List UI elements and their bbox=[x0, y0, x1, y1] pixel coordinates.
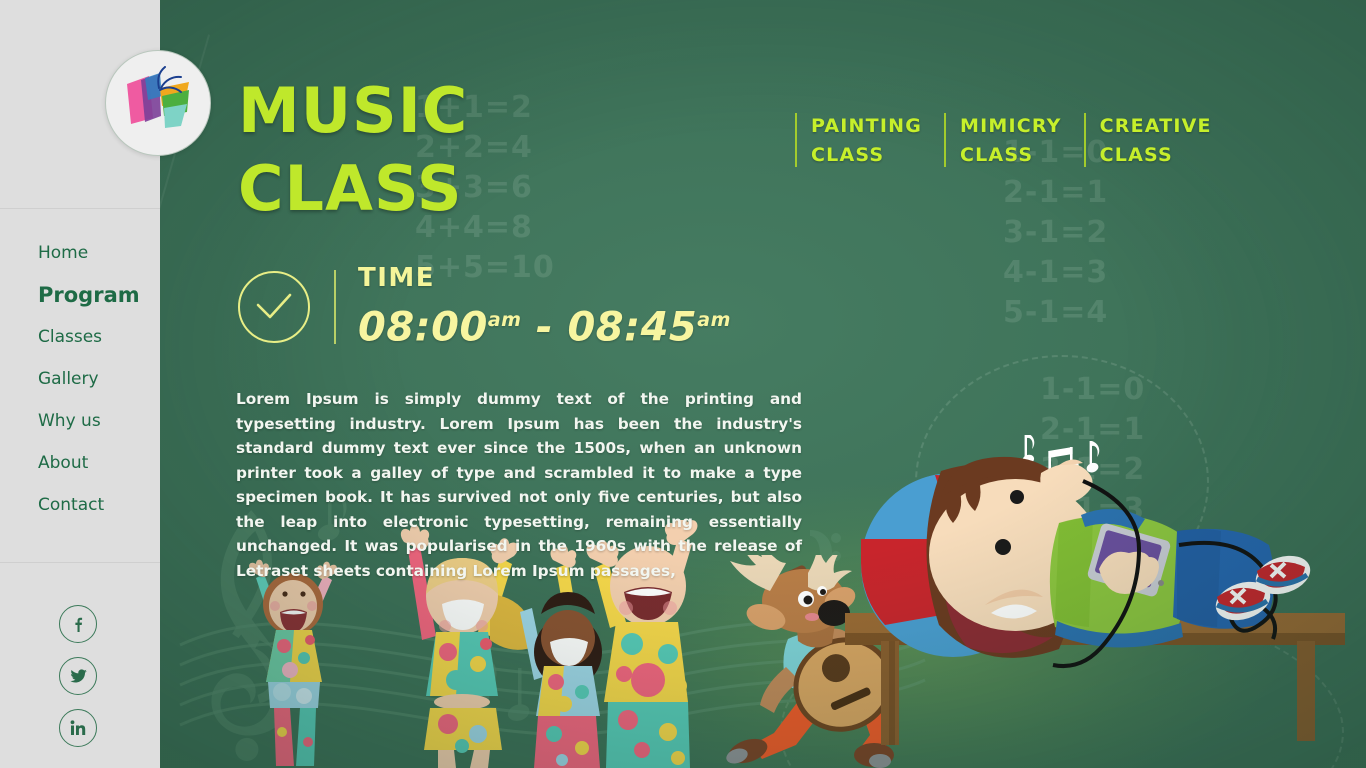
page-root: 1+1=2 2+2=4 3+3=6 4+4=8 5+5=10 1-1=0 2-1… bbox=[0, 0, 1366, 768]
time-dash: - bbox=[536, 304, 553, 350]
sidebar-item-program[interactable]: Program bbox=[0, 274, 160, 316]
time-value: 08:00am - 08:45am bbox=[358, 296, 731, 351]
time-start: 08:00 bbox=[358, 304, 488, 350]
sidebar-item-why-us[interactable]: Why us bbox=[0, 400, 160, 442]
class-link-creative-line-1: CREATIVE bbox=[1100, 112, 1212, 141]
check-circle-icon bbox=[238, 271, 310, 343]
time-start-meridiem: am bbox=[488, 309, 522, 331]
twitter-icon[interactable] bbox=[59, 657, 97, 695]
sidebar-divider-top bbox=[0, 208, 160, 209]
butterfly-book-logo-icon bbox=[119, 66, 197, 140]
time-label: TIME bbox=[358, 264, 731, 292]
class-link-painting[interactable]: PAINTING CLASS bbox=[795, 112, 944, 170]
class-link-painting-line-1: PAINTING bbox=[811, 112, 922, 141]
social-links bbox=[59, 605, 97, 761]
time-end: 08:45 bbox=[567, 304, 697, 350]
class-link-mimicry-line-1: MIMICRY bbox=[960, 112, 1062, 141]
page-title: MUSIC CLASS bbox=[238, 72, 758, 228]
class-link-creative[interactable]: CREATIVE CLASS bbox=[1084, 112, 1234, 170]
class-link-mimicry-line-2: CLASS bbox=[960, 141, 1062, 170]
class-link-painting-line-2: CLASS bbox=[811, 141, 922, 170]
sidebar-item-gallery[interactable]: Gallery bbox=[0, 358, 160, 400]
class-link-creative-line-2: CLASS bbox=[1100, 141, 1212, 170]
page-title-line-2: CLASS bbox=[238, 150, 758, 228]
sidebar-item-classes[interactable]: Classes bbox=[0, 316, 160, 358]
time-end-meridiem: am bbox=[697, 309, 731, 331]
facebook-icon[interactable] bbox=[59, 605, 97, 643]
time-divider bbox=[334, 270, 336, 344]
page-title-line-1: MUSIC bbox=[238, 72, 758, 150]
class-links: PAINTING CLASS MIMICRY CLASS CREATIVE CL… bbox=[795, 112, 1234, 170]
sidebar: Home Program Classes Gallery Why us Abou… bbox=[0, 0, 160, 768]
sidebar-nav: Home Program Classes Gallery Why us Abou… bbox=[0, 232, 160, 526]
sidebar-item-home[interactable]: Home bbox=[0, 232, 160, 274]
logo[interactable] bbox=[105, 50, 211, 156]
linkedin-icon[interactable] bbox=[59, 709, 97, 747]
class-link-mimicry[interactable]: MIMICRY CLASS bbox=[944, 112, 1084, 170]
sidebar-divider-bottom bbox=[0, 562, 160, 563]
sidebar-item-contact[interactable]: Contact bbox=[0, 484, 160, 526]
body-paragraph: Lorem Ipsum is simply dummy text of the … bbox=[236, 387, 802, 583]
sidebar-item-about[interactable]: About bbox=[0, 442, 160, 484]
time-block: TIME 08:00am - 08:45am bbox=[238, 262, 731, 351]
